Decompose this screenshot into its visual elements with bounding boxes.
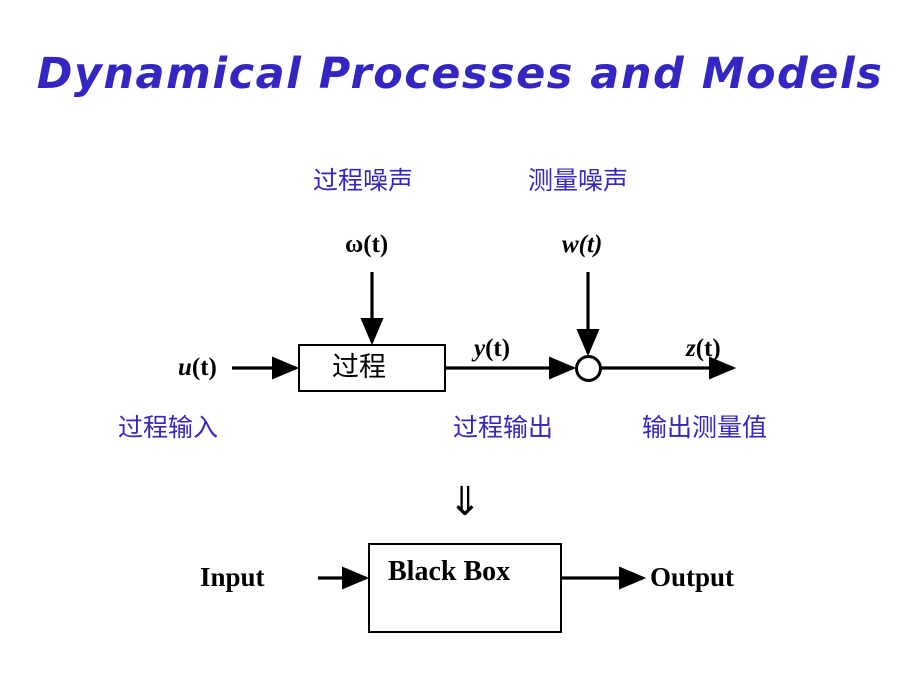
double-down-arrow-icon: ⇓ — [448, 482, 482, 522]
page-title: Dynamical Processes and Models — [0, 52, 920, 97]
process-noise-label: 过程噪声 — [313, 168, 413, 193]
black-box-label: Black Box — [388, 558, 510, 586]
process-box-label: 过程 — [332, 354, 386, 381]
summing-junction-circle — [575, 355, 602, 382]
process-noise-symbol: ω(t) — [345, 232, 388, 257]
measurement-noise-symbol: w(t) — [562, 232, 602, 257]
process-input-caption: 过程输入 — [118, 415, 218, 440]
measurement-noise-label: 测量噪声 — [528, 168, 628, 193]
output-measurement-caption: 输出测量值 — [642, 415, 767, 440]
measured-output-signal-symbol: z(t) — [686, 336, 721, 361]
input-label: Input — [200, 564, 265, 591]
slide-canvas: Dynamical Processes and Models 过程噪声 测量噪声… — [0, 0, 920, 690]
process-output-caption: 过程输出 — [453, 415, 553, 440]
input-signal-symbol: u(t) — [178, 355, 217, 380]
process-output-signal-symbol: y(t) — [474, 336, 510, 361]
output-label: Output — [650, 564, 734, 591]
